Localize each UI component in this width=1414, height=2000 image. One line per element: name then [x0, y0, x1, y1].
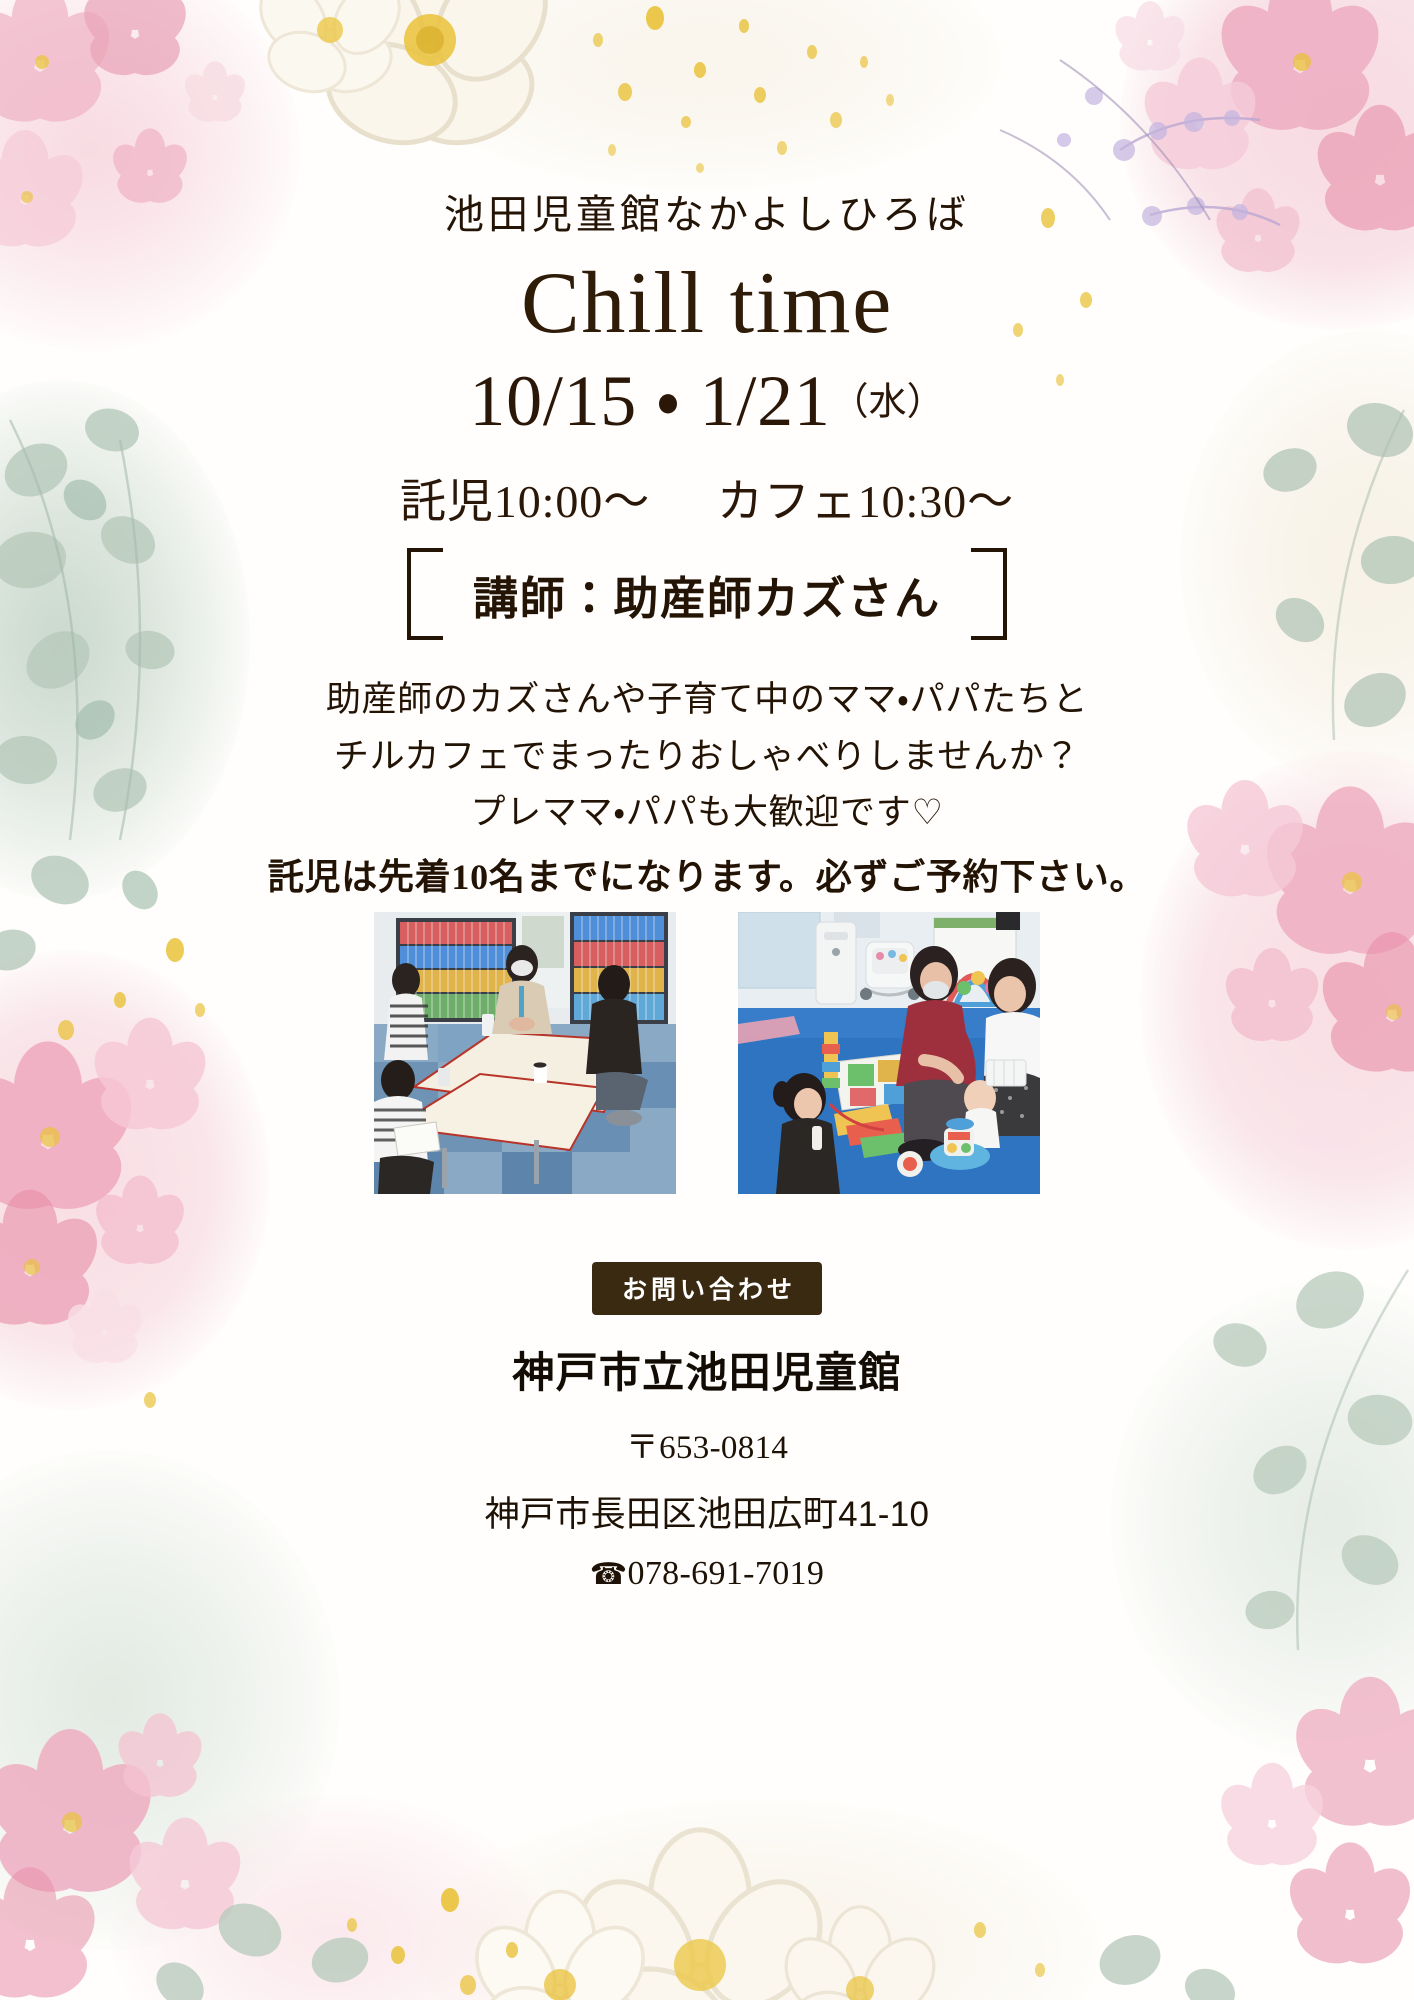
- event-day-of-week: （水）: [831, 381, 945, 423]
- organization-name: 神戸市立池田児童館: [0, 1339, 1414, 1400]
- body-emphasis: 託児は先着10名までになります。必ずご予約下さい。: [0, 848, 1414, 906]
- street-address: 神戸市長田区池田広町41-10: [0, 1486, 1414, 1537]
- photo-cafe-table: [374, 912, 676, 1194]
- event-dates: 10/15 ・ 1/21（水）: [0, 362, 1414, 441]
- telephone-icon: ☎: [590, 1558, 628, 1591]
- childcare-time: 託児10:00〜: [400, 476, 650, 527]
- postal-code: 〒653-0814: [0, 1420, 1414, 1468]
- event-times: 託児10:00〜 カフェ10:30〜: [0, 465, 1414, 531]
- body-line-3: プレママ・パパも大歓迎です♡: [0, 785, 1414, 842]
- cafe-time: カフェ10:30〜: [717, 476, 1014, 527]
- kicker-subtitle: 池田児童館なかよしひろば: [0, 182, 1414, 240]
- photo-playroom: [738, 912, 1040, 1194]
- body-copy: 助産師のカズさんや子育て中のママ・パパたちと チルカフェでまったりおしゃべりしま…: [0, 672, 1414, 906]
- body-line-2: チルカフェでまったりおしゃべりしませんか？: [0, 729, 1414, 786]
- lecturer-box: 講師：助産師カズさん: [407, 548, 1007, 640]
- telephone-number: 078-691-7019: [627, 1555, 824, 1592]
- event-dates-value: 10/15 ・ 1/21: [469, 361, 830, 441]
- bracket-right-icon: [971, 548, 1007, 640]
- page-title: Chill time: [0, 258, 1414, 350]
- bracket-left-icon: [407, 548, 443, 640]
- body-line-1: 助産師のカズさんや子育て中のママ・パパたちと: [0, 672, 1414, 729]
- poster-root: 池田児童館なかよしひろば Chill time 10/15 ・ 1/21（水） …: [0, 0, 1414, 2000]
- poster-content: 池田児童館なかよしひろば Chill time 10/15 ・ 1/21（水） …: [0, 0, 1414, 2000]
- photo-gallery: [0, 912, 1414, 1194]
- telephone: ☎078-691-7019: [0, 1555, 1414, 1593]
- contact-footer: お問い合わせ 神戸市立池田児童館 〒653-0814 神戸市長田区池田広町41-…: [0, 1262, 1414, 1593]
- lecturer-name: 講師：助産師カズさん: [473, 562, 941, 627]
- contact-badge: お問い合わせ: [592, 1262, 822, 1315]
